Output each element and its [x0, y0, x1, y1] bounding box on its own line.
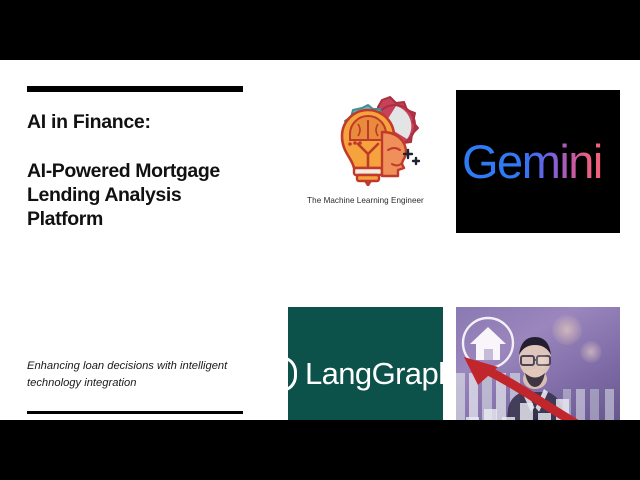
letterbox-bottom: [0, 420, 640, 480]
divider-rule-top: [27, 86, 243, 92]
slide-title-primary: AI in Finance:: [27, 111, 249, 133]
slide-canvas: AI in Finance: AI-Powered Mortgage Lendi…: [0, 60, 640, 420]
tile-mle-logo: The Machine Learning Engineer: [288, 88, 443, 224]
lightbulb-gear-brain-face-icon: [312, 94, 420, 194]
letterbox-top: [0, 0, 640, 60]
slide-text-column: AI in Finance: AI-Powered Mortgage Lendi…: [27, 86, 249, 398]
gemini-wordmark: Gemini: [462, 134, 602, 189]
mle-logo-caption: The Machine Learning Engineer: [288, 196, 443, 205]
langgraph-wordmark: LangGraph: [305, 356, 443, 392]
langgraph-node-glyph-icon: [288, 356, 297, 392]
video-frame: AI in Finance: AI-Powered Mortgage Lendi…: [0, 0, 640, 480]
media-grid: The Machine Learning Engineer Gemini Lan…: [288, 88, 620, 396]
slide-subtitle: Enhancing loan decisions with intelligen…: [27, 358, 245, 393]
divider-rule-bottom: [27, 411, 243, 414]
langgraph-lockup: LangGraph: [288, 356, 443, 392]
slide-title-secondary: AI-Powered Mortgage Lending Analysis Pla…: [27, 160, 242, 231]
tile-gemini-logo: Gemini: [456, 90, 620, 233]
bokeh-decor-a: [552, 315, 582, 345]
